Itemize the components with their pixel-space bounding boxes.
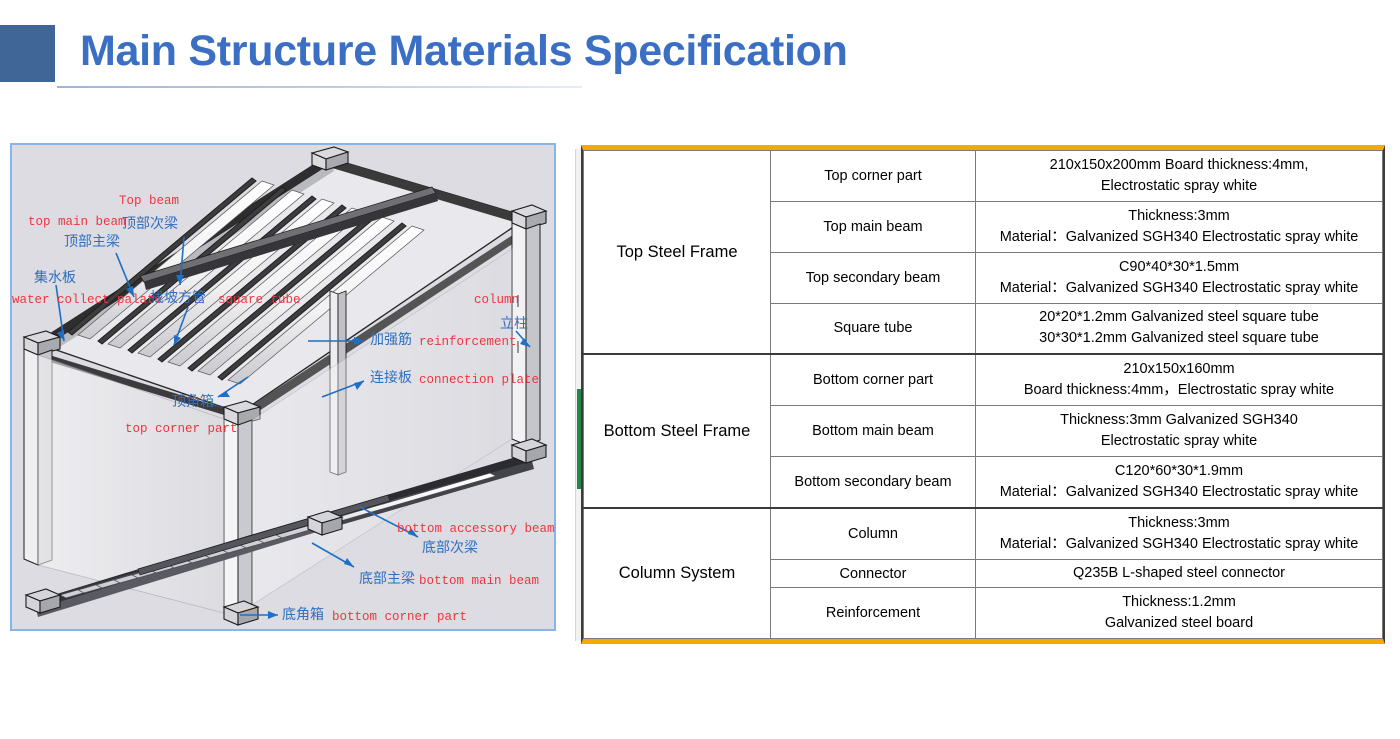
description-line: 210x150x200mm Board thickness:4mm, xyxy=(980,155,1378,176)
description-cell: Thickness:3mmMaterial：Galvanized SGH340 … xyxy=(976,508,1383,559)
description-line: Material：Galvanized SGH340 Electrostatic… xyxy=(980,482,1378,503)
description-cell: Thickness:3mmMaterial：Galvanized SGH340 … xyxy=(976,201,1383,252)
description-line: Thickness:3mm xyxy=(980,513,1378,534)
part-cell: Bottom secondary beam xyxy=(771,457,976,508)
title-underline xyxy=(57,86,582,88)
description-line: Material：Galvanized SGH340 Electrostatic… xyxy=(980,227,1378,248)
title-accent-square xyxy=(0,25,55,82)
description-line: Board thickness:4mm，Electrostatic spray … xyxy=(980,380,1378,401)
description-line: C120*60*30*1.9mm xyxy=(980,461,1378,482)
description-line: C90*40*30*1.5mm xyxy=(980,257,1378,278)
description-line: Thickness:3mm xyxy=(980,206,1378,227)
description-line: 210x150x160mm xyxy=(980,359,1378,380)
description-line: 30*30*1.2mm Galvanized steel square tube xyxy=(980,328,1378,349)
description-cell: C120*60*30*1.9mmMaterial：Galvanized SGH3… xyxy=(976,457,1383,508)
page-title: Main Structure Materials Specification xyxy=(80,29,848,74)
description-line: Thickness:1.2mm xyxy=(980,592,1378,613)
specification-table-frame: Top Steel FrameTop corner part210x150x20… xyxy=(581,145,1385,644)
description-line: Electrostatic spray white xyxy=(980,176,1378,197)
part-cell: Connector xyxy=(771,559,976,587)
description-cell: 20*20*1.2mm Galvanized steel square tube… xyxy=(976,303,1383,354)
description-cell: Thickness:1.2mmGalvanized steel board xyxy=(976,588,1383,639)
description-cell: 210x150x160mmBoard thickness:4mm，Electro… xyxy=(976,354,1383,405)
group-cell-bottom-steel-frame: Bottom Steel Frame xyxy=(584,354,771,508)
description-line: Electrostatic spray white xyxy=(980,431,1378,452)
group-cell-top-steel-frame: Top Steel Frame xyxy=(584,151,771,355)
part-cell: Bottom corner part xyxy=(771,354,976,405)
title-bar: Main Structure Materials Specification xyxy=(0,0,1400,118)
specification-table: Top Steel FrameTop corner part210x150x20… xyxy=(583,150,1383,639)
table-row: Top Steel FrameTop corner part210x150x20… xyxy=(584,151,1383,202)
description-line: 20*20*1.2mm Galvanized steel square tube xyxy=(980,307,1378,328)
part-cell: Column xyxy=(771,508,976,559)
table-row: Bottom Steel FrameBottom corner part210x… xyxy=(584,354,1383,405)
specification-table-wrapper: Top Steel FrameTop corner part210x150x20… xyxy=(575,145,1385,644)
description-cell: 210x150x200mm Board thickness:4mm,Electr… xyxy=(976,151,1383,202)
description-line: Q235B L-shaped steel connector xyxy=(980,563,1378,584)
description-cell: Thickness:3mm Galvanized SGH340Electrost… xyxy=(976,406,1383,457)
table-row: Column SystemColumnThickness:3mmMaterial… xyxy=(584,508,1383,559)
description-line: Material：Galvanized SGH340 Electrostatic… xyxy=(980,278,1378,299)
description-line: Galvanized steel board xyxy=(980,613,1378,634)
description-line: Thickness:3mm Galvanized SGH340 xyxy=(980,410,1378,431)
group-cell-column-system: Column System xyxy=(584,508,771,638)
part-cell: Square tube xyxy=(771,303,976,354)
description-cell: C90*40*30*1.5mmMaterial：Galvanized SGH34… xyxy=(976,252,1383,303)
part-cell: Top secondary beam xyxy=(771,252,976,303)
part-cell: Top main beam xyxy=(771,201,976,252)
description-cell: Q235B L-shaped steel connector xyxy=(976,559,1383,587)
container-frame-diagram-panel: Top beam顶部次梁top main beam顶部主梁集水板water co… xyxy=(10,143,556,631)
container-frame-illustration xyxy=(12,145,554,629)
part-cell: Reinforcement xyxy=(771,588,976,639)
part-cell: Top corner part xyxy=(771,151,976,202)
description-line: Material：Galvanized SGH340 Electrostatic… xyxy=(980,534,1378,555)
part-cell: Bottom main beam xyxy=(771,406,976,457)
